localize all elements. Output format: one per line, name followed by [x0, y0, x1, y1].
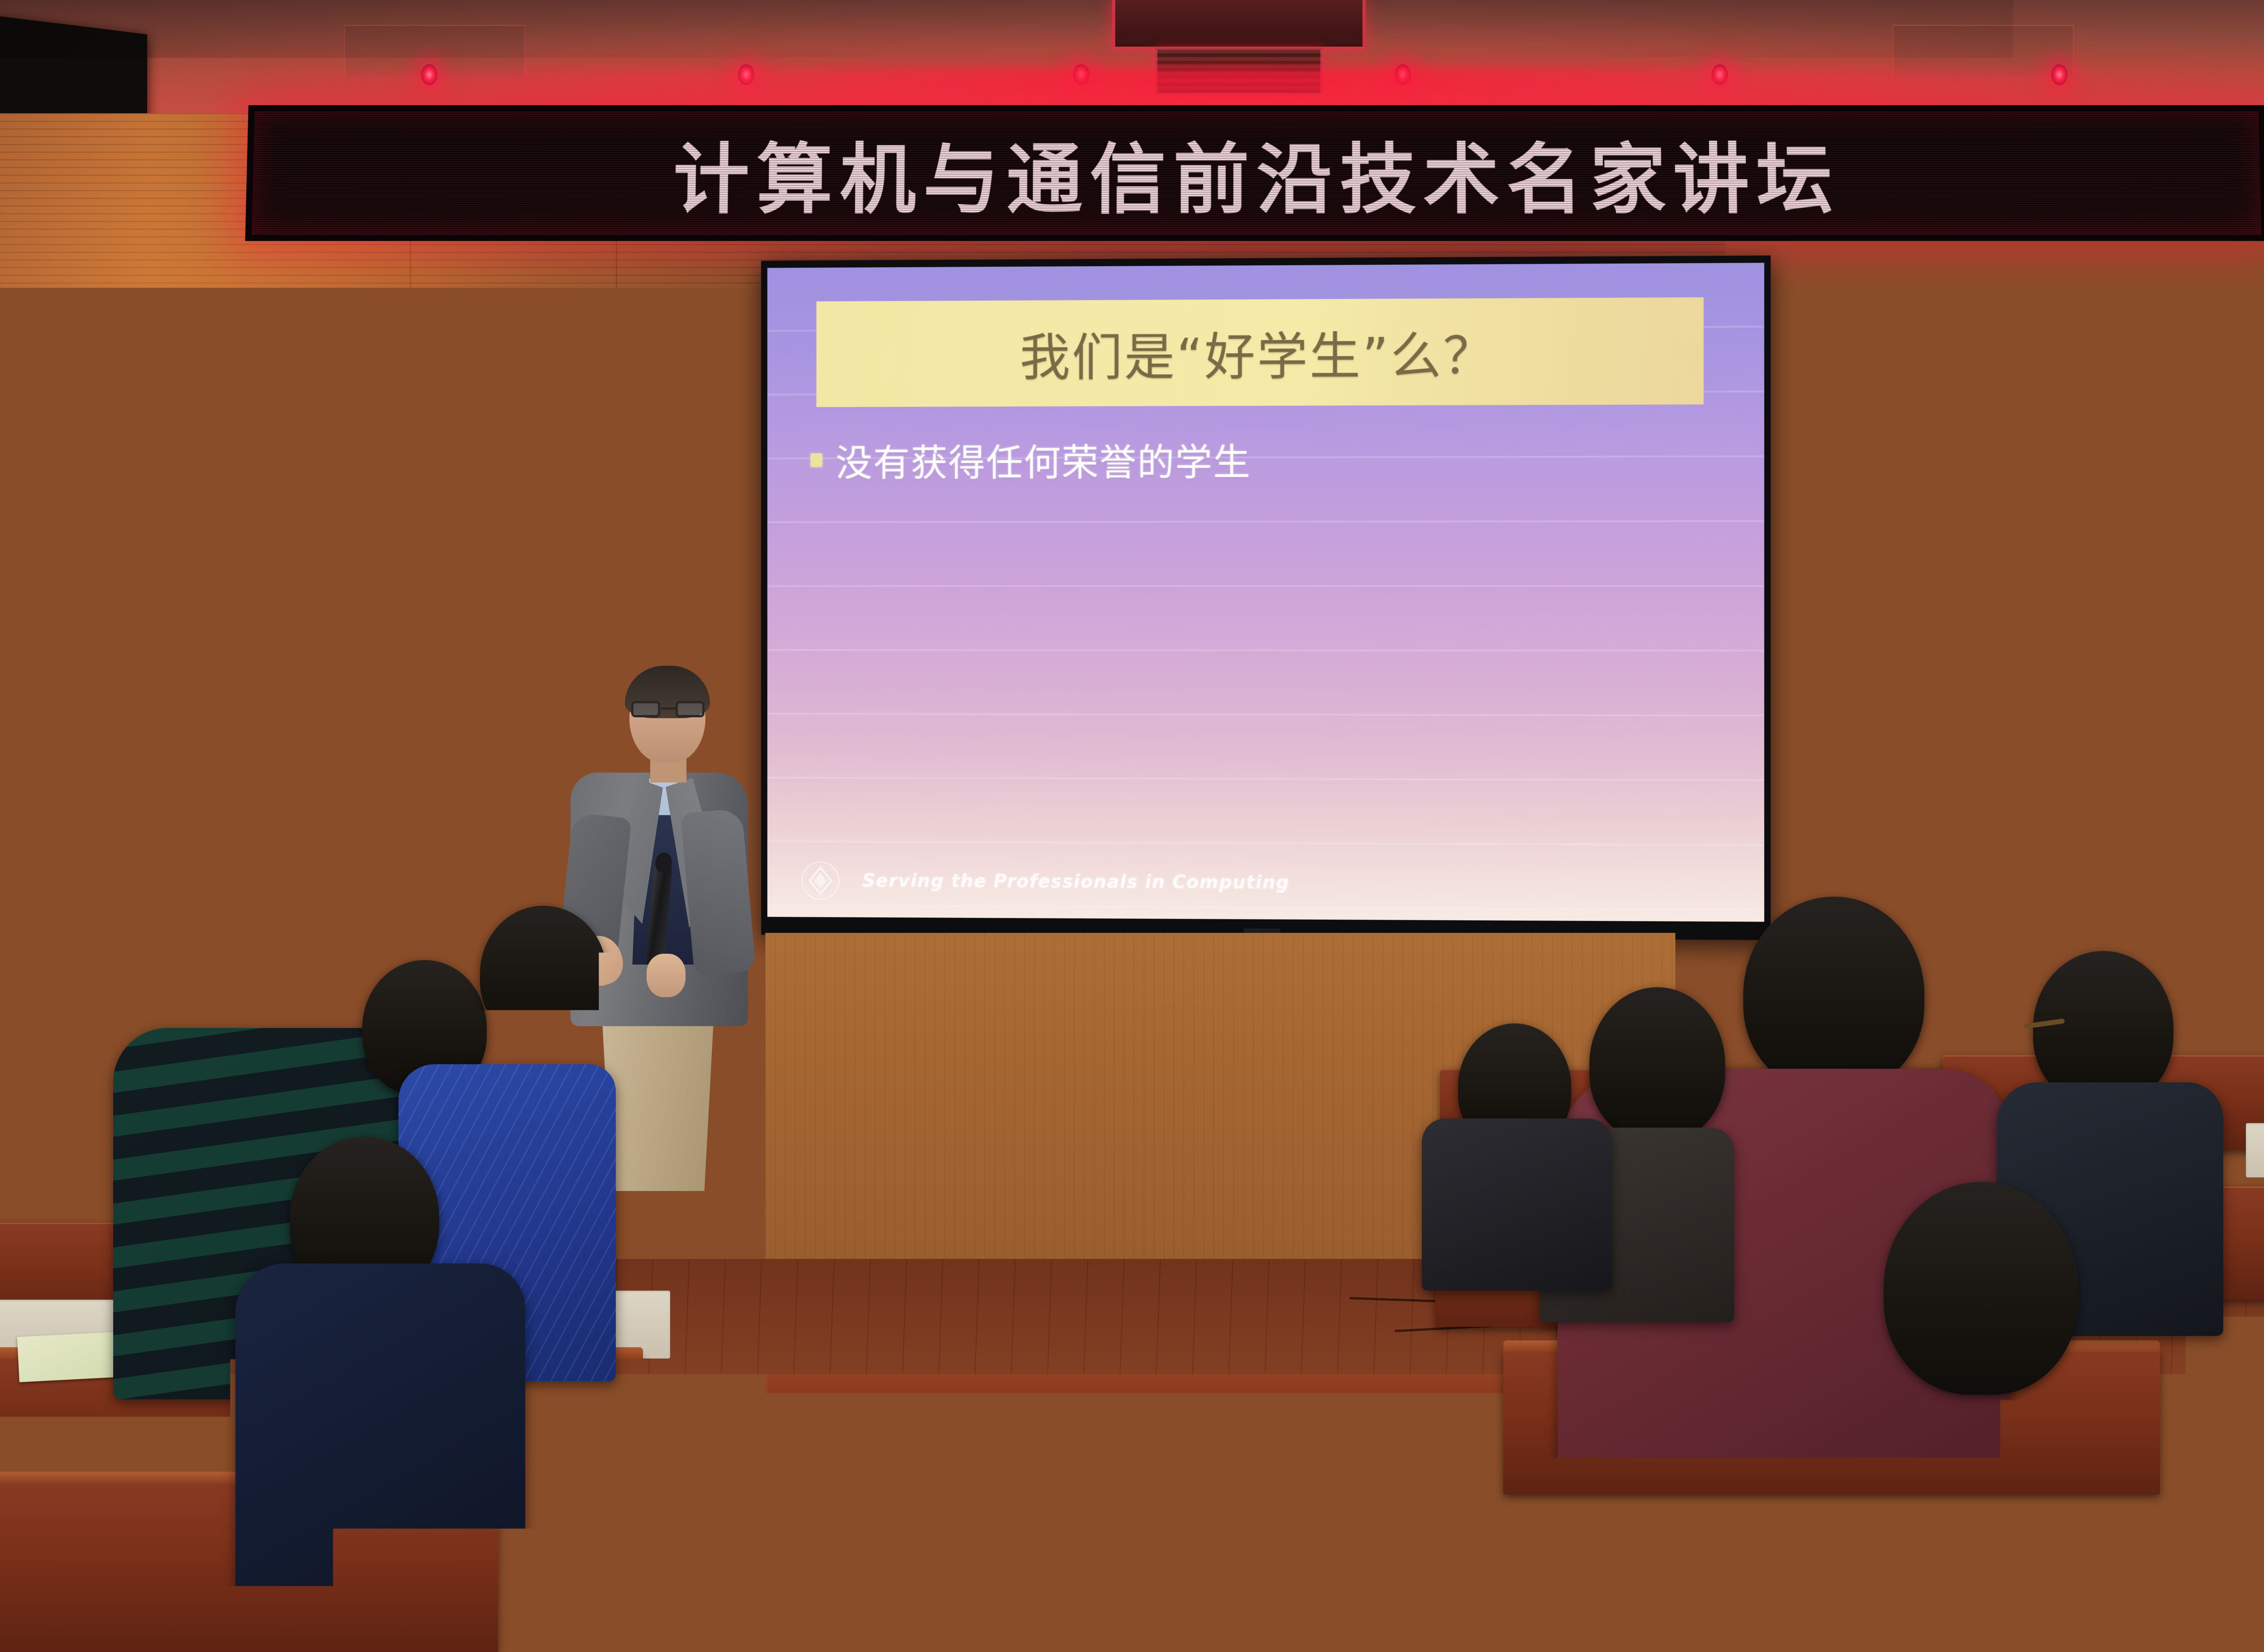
attendee-body-front: [235, 1263, 525, 1652]
slide-footer: Serving the Professionals in Computing: [800, 860, 1290, 903]
ccf-logo-icon: [800, 860, 841, 902]
lecture-hall-photo: 计算机与通信前沿技术名家讲坛 安全出口 我们是“好学生”么？ 没有获得任何荣誉的…: [0, 0, 2264, 1652]
glasses-lens-right: [676, 701, 705, 717]
glasses-lens-left: [631, 701, 660, 717]
presenter-glasses: [630, 701, 705, 717]
presentation-slide: 我们是“好学生”么？ 没有获得任何荣誉的学生 Serving the Profe…: [767, 263, 1765, 922]
slide-bullet-item: 没有获得任何荣誉的学生: [811, 432, 1251, 487]
presenter-hand-right: [647, 954, 686, 997]
podium-inscription: 北京科技大学 图书馆: [113, 833, 368, 916]
slide-footer-tagline: Serving the Professionals in Computing: [862, 871, 1290, 893]
attendee-head-ponytail: [1589, 987, 1725, 1141]
attendee-body: [444, 1019, 652, 1209]
attendee-body: [1422, 1119, 1612, 1291]
slide-title: 我们是“好学生”么？: [1020, 315, 1496, 390]
glasses-bridge: [661, 707, 676, 710]
bullet-square-icon: [811, 453, 822, 467]
led-banner-text: 计算机与通信前沿技术名家讲坛: [672, 118, 1840, 228]
laptop-power-led: [161, 814, 165, 818]
ceiling: [0, 0, 2264, 122]
slide-title-band: 我们是“好学生”么？: [816, 298, 1703, 408]
seat-pad[interactable]: [2246, 1123, 2264, 1177]
ceiling-air-vent: [1112, 0, 1366, 50]
attendee-head: [1743, 897, 1924, 1091]
led-banner: 计算机与通信前沿技术名家讲坛: [245, 105, 2264, 241]
projection-screen: 我们是“好学生”么？ 没有获得任何荣誉的学生 Serving the Profe…: [761, 255, 1771, 940]
wall-seam: [410, 113, 411, 1109]
slide-bullet-text: 没有获得任何荣誉的学生: [835, 432, 1251, 487]
podium-line-1: 北京科技大学: [170, 842, 312, 875]
attendee-head: [2033, 951, 2173, 1105]
